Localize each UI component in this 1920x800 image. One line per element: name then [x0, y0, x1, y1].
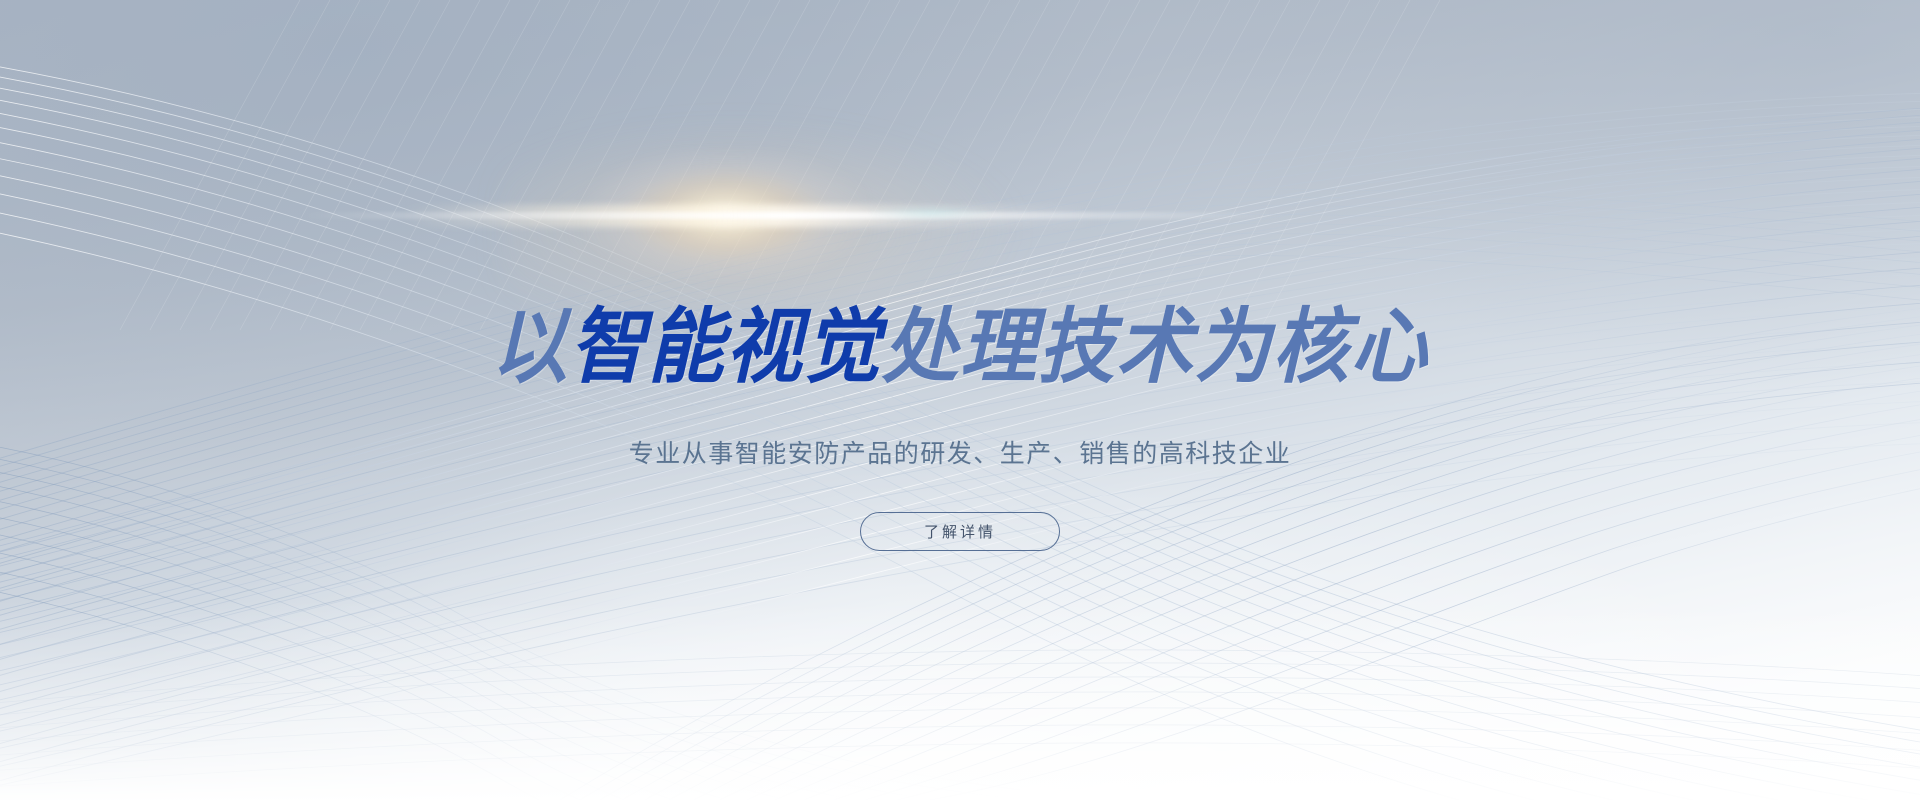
page-subtitle: 专业从事智能安防产品的研发、生产、销售的高科技企业: [0, 437, 1920, 472]
cta-container: 了解详情: [0, 512, 1920, 551]
headline-lead: 以: [491, 300, 569, 395]
page-title: 以智能视觉处理技术为核心: [67, 307, 1853, 389]
hero-content: 以智能视觉处理技术为核心 专业从事智能安防产品的研发、生产、销售的高科技企业 了…: [0, 0, 1920, 800]
learn-more-button[interactable]: 了解详情: [860, 512, 1060, 551]
hero-banner: 以智能视觉处理技术为核心 专业从事智能安防产品的研发、生产、销售的高科技企业 了…: [0, 0, 1920, 800]
headline-accent: 智能视觉: [569, 300, 881, 395]
headline-tail: 处理技术为核心: [882, 300, 1429, 395]
